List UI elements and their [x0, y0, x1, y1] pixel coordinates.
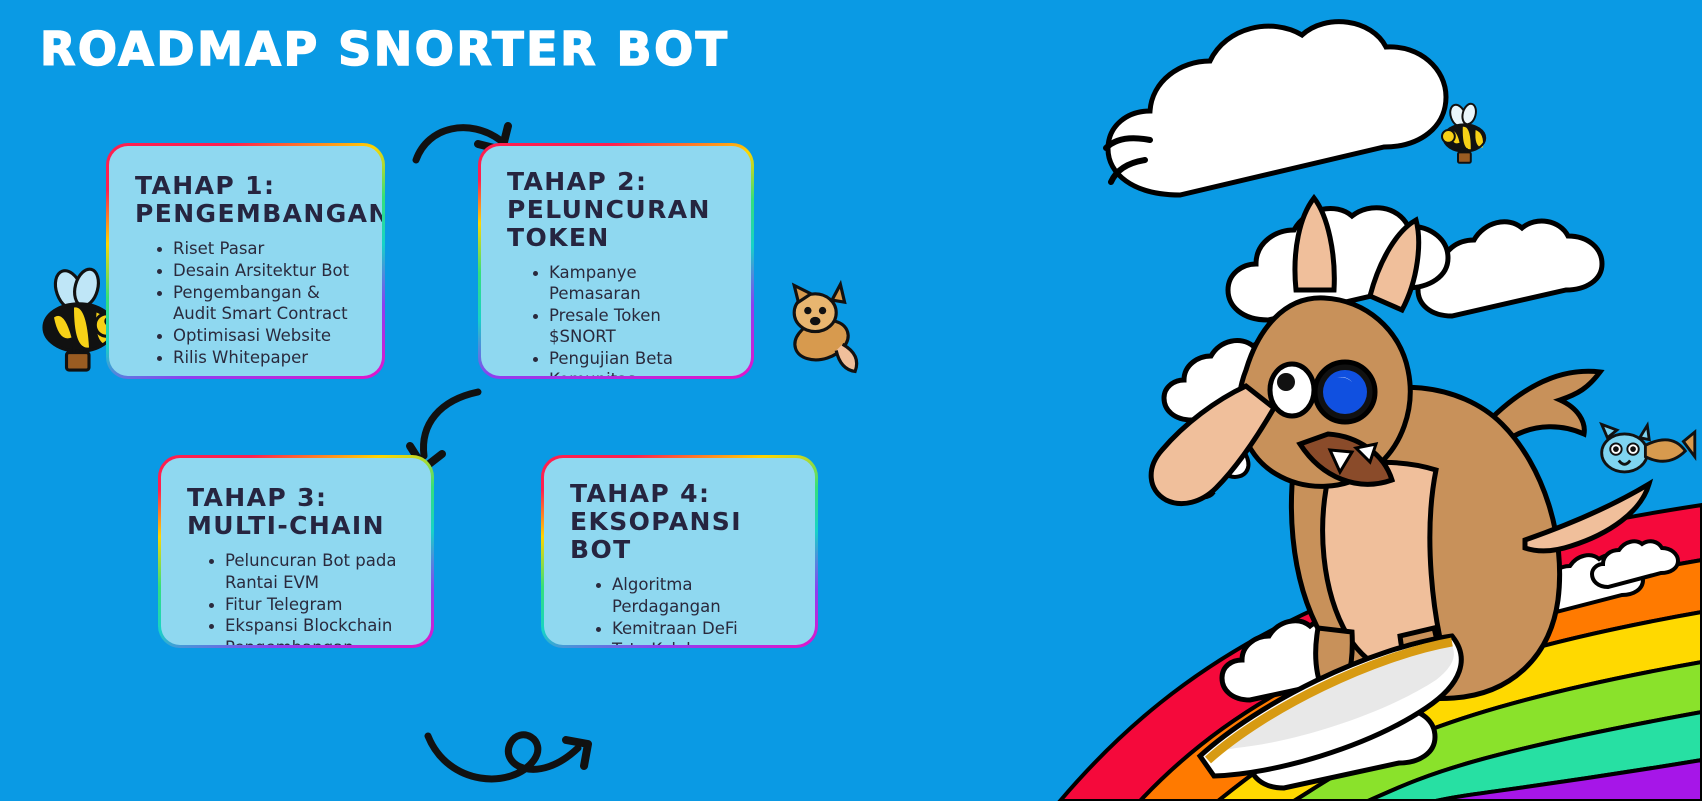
- card-title: TAHAP 1: PENGEMBANGAN: [135, 172, 356, 228]
- cloud-icon-mascot-3: [1250, 694, 1435, 788]
- snorter-aardvark-mascot: [1151, 198, 1649, 704]
- roadmap-card-tahap-2[interactable]: TAHAP 2: PELUNCURAN TOKEN Kampanye Pemas…: [478, 143, 754, 379]
- rainbow-wave: [1060, 505, 1702, 801]
- bee-with-briefcase-top-right: [1442, 102, 1485, 163]
- eye-left: [1270, 364, 1314, 416]
- smoke-puff-icon-1: [1228, 208, 1448, 320]
- list-item: Fitur Telegram: [209, 594, 405, 616]
- cloud-icon-mascot-5: [1592, 541, 1678, 587]
- cloud-icon-mascot-4: [1536, 555, 1643, 612]
- card-title: TAHAP 2: PELUNCURAN TOKEN: [507, 168, 725, 252]
- background-artwork: [0, 0, 1702, 801]
- smoke-trail-icon: [1191, 444, 1248, 497]
- character-art: [0, 0, 1702, 801]
- card-title-line: PELUNCURAN: [507, 196, 725, 224]
- card-title-line: TAHAP 1:: [135, 172, 356, 200]
- cloud-icon-mascot-1: [1418, 221, 1602, 316]
- roadmap-card-tahap-1[interactable]: TAHAP 1: PENGEMBANGAN Riset Pasar Desain…: [106, 143, 385, 379]
- flow-arrows: [0, 0, 1702, 801]
- card-item-list: Peluncuran Bot pada Rantai EVM Fitur Tel…: [187, 550, 405, 645]
- card-item-list: Kampanye Pemasaran Presale Token $SNORT …: [507, 262, 725, 376]
- card-title-line: TOKEN: [507, 224, 725, 252]
- card-title-line: EKSOPANSI BOT: [570, 508, 789, 564]
- list-item: Rilis Whitepaper: [157, 347, 356, 369]
- cloud-icon-mascot-2: [1222, 620, 1378, 700]
- list-item: Riset Pasar: [157, 238, 356, 260]
- cat-fish-mascot-right: [1602, 424, 1695, 472]
- cloud-icon-large: [1108, 22, 1446, 195]
- smoke-puff-icon-2: [1164, 340, 1321, 420]
- dog-coin-mascot-stage2: [790, 284, 857, 371]
- card-item-list: Riset Pasar Desain Arsitektur Bot Pengem…: [135, 238, 356, 369]
- card-title-line: PENGEMBANGAN: [135, 200, 356, 228]
- roadmap-card-tahap-3[interactable]: TAHAP 3: MULTI-CHAIN Peluncuran Bot pada…: [158, 455, 434, 648]
- list-item: Algoritma Perdagangan: [596, 574, 789, 618]
- list-item: Tata Kelola Komunitas: [596, 639, 789, 645]
- card-title: TAHAP 3: MULTI-CHAIN: [187, 484, 405, 540]
- list-item: Pengembangan & Audit Smart Contract: [157, 282, 356, 326]
- list-item: Kampanye Pemasaran: [533, 262, 725, 305]
- card-item-list: Algoritma Perdagangan Kemitraan DeFi Tat…: [570, 574, 789, 645]
- list-item: Kemitraan DeFi: [596, 618, 789, 640]
- list-item: Ekspansi Blockchain: [209, 615, 405, 637]
- card-title-line: MULTI-CHAIN: [187, 512, 405, 540]
- list-item: Peluncuran Bot pada Rantai EVM: [209, 550, 405, 594]
- arrow-stage3-to-stage4: [428, 735, 588, 779]
- surfboard: [1200, 636, 1461, 776]
- card-title-line: TAHAP 4:: [570, 480, 789, 508]
- card-body: TAHAP 4: EKSOPANSI BOT Algoritma Perdaga…: [544, 458, 815, 645]
- list-item: Desain Arsitektur Bot: [157, 260, 356, 282]
- card-title-line: TAHAP 2:: [507, 168, 725, 196]
- card-title: TAHAP 4: EKSOPANSI BOT: [570, 480, 789, 564]
- cloud-tail-icon: [1106, 138, 1150, 182]
- list-item: Optimisasi Website: [157, 325, 356, 347]
- roadmap-infographic: ROADMAP SNORTER BOT: [0, 0, 1702, 801]
- eye-right: [1315, 362, 1375, 422]
- list-item: Pengembangan Ekosistem: [209, 637, 405, 645]
- list-item: Presale Token $SNORT: [533, 305, 725, 348]
- card-body: TAHAP 3: MULTI-CHAIN Peluncuran Bot pada…: [161, 458, 431, 645]
- page-title: ROADMAP SNORTER BOT: [40, 22, 730, 76]
- card-body: TAHAP 2: PELUNCURAN TOKEN Kampanye Pemas…: [481, 146, 751, 376]
- list-item: Pengujian Beta Komunitas: [533, 348, 725, 376]
- roadmap-card-tahap-4[interactable]: TAHAP 4: EKSOPANSI BOT Algoritma Perdaga…: [541, 455, 818, 648]
- card-body: TAHAP 1: PENGEMBANGAN Riset Pasar Desain…: [109, 146, 382, 376]
- card-title-line: TAHAP 3:: [187, 484, 405, 512]
